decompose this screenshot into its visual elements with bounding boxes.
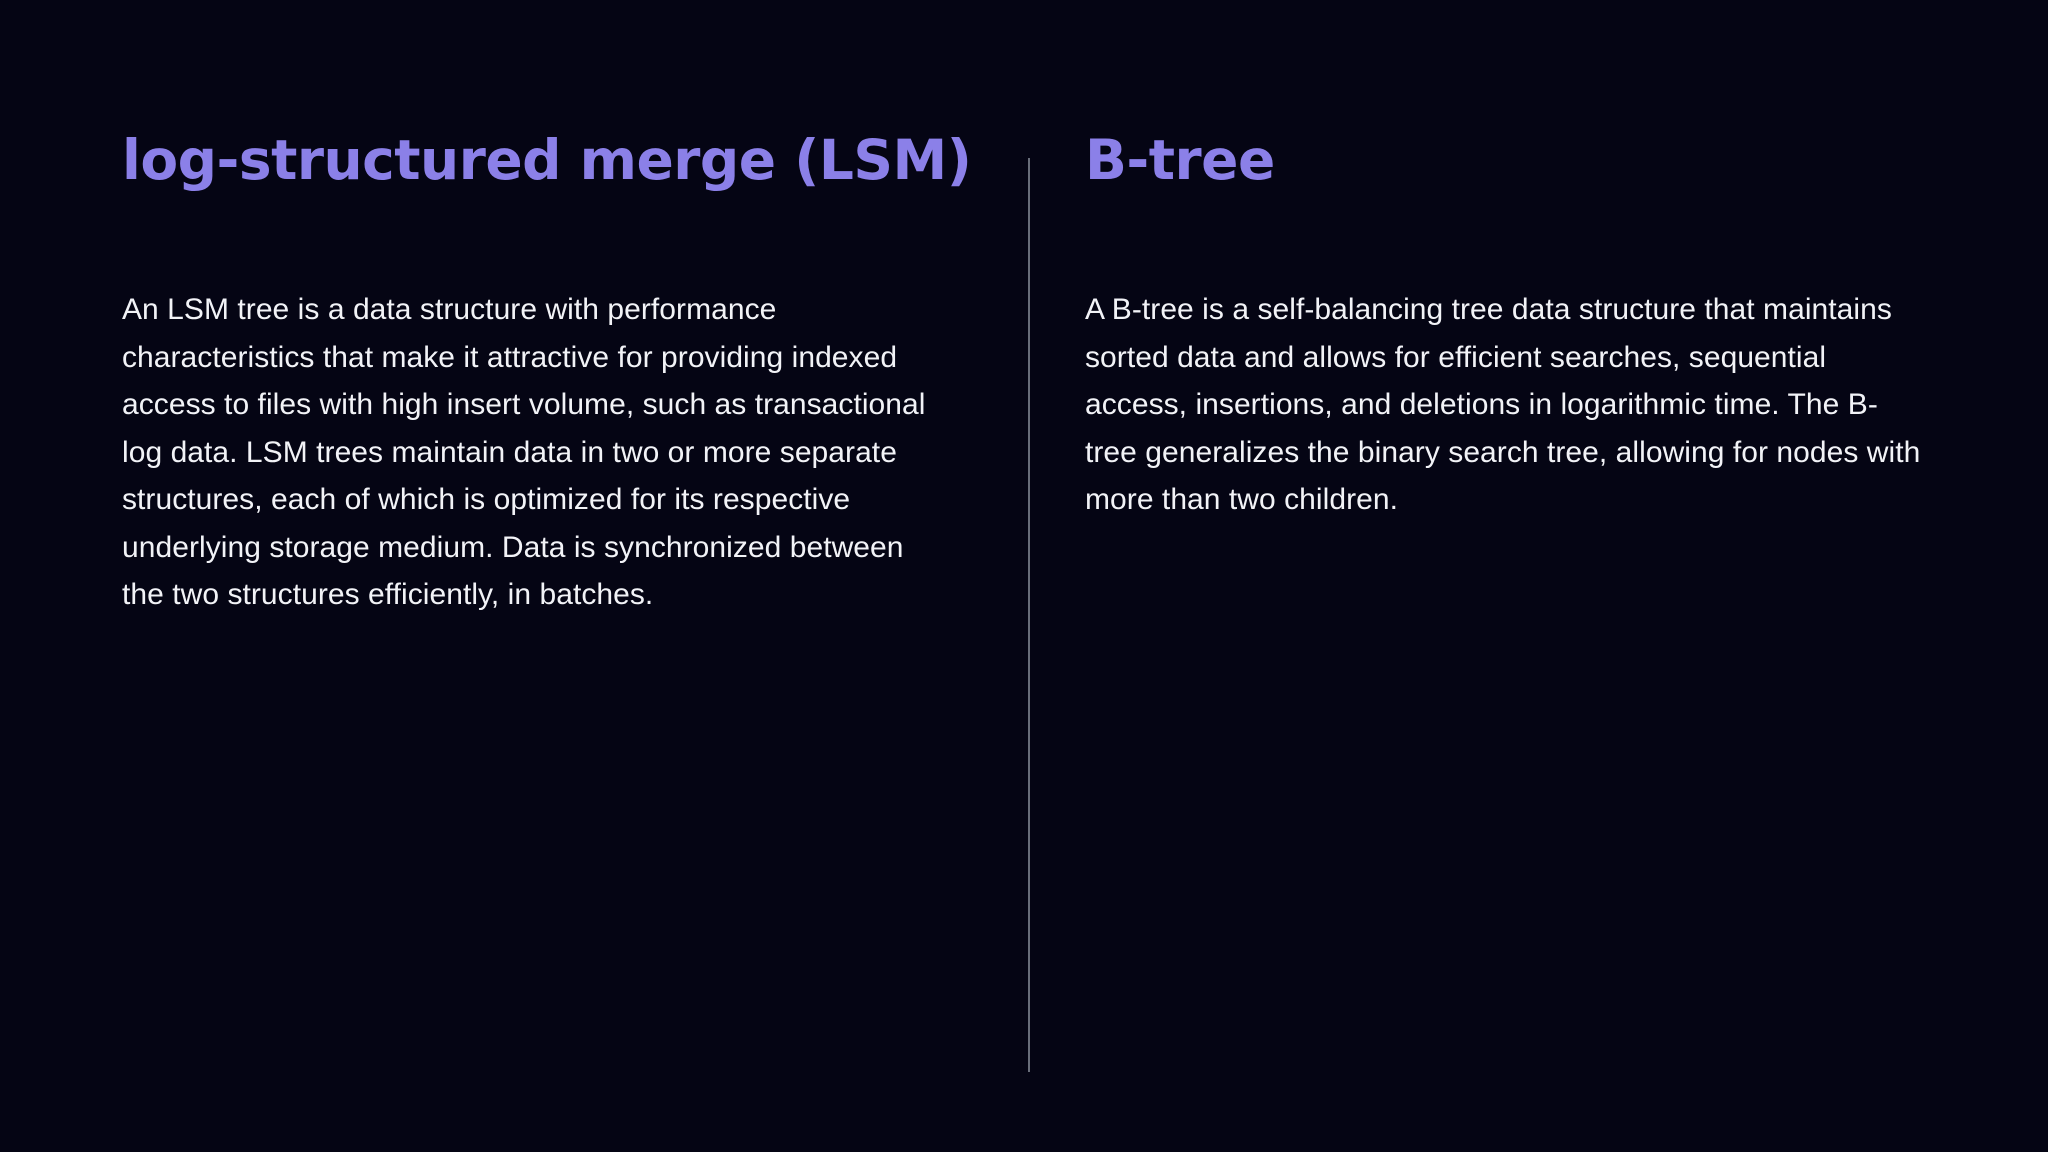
column-body-lsm: An LSM tree is a data structure with per… bbox=[122, 192, 950, 619]
comparison-column-btree: B-tree A B-tree is a self-balancing tree… bbox=[1028, 0, 2048, 524]
vertical-divider bbox=[1028, 158, 1030, 1072]
column-heading-lsm: log-structured merge (LSM) bbox=[122, 128, 950, 192]
comparison-column-lsm: log-structured merge (LSM) An LSM tree i… bbox=[0, 0, 1028, 619]
column-body-btree: A B-tree is a self-balancing tree data s… bbox=[1085, 192, 1928, 524]
comparison-board: log-structured merge (LSM) An LSM tree i… bbox=[0, 0, 2048, 1152]
comparison-columns: log-structured merge (LSM) An LSM tree i… bbox=[0, 0, 2048, 1152]
column-heading-btree: B-tree bbox=[1085, 128, 1928, 192]
